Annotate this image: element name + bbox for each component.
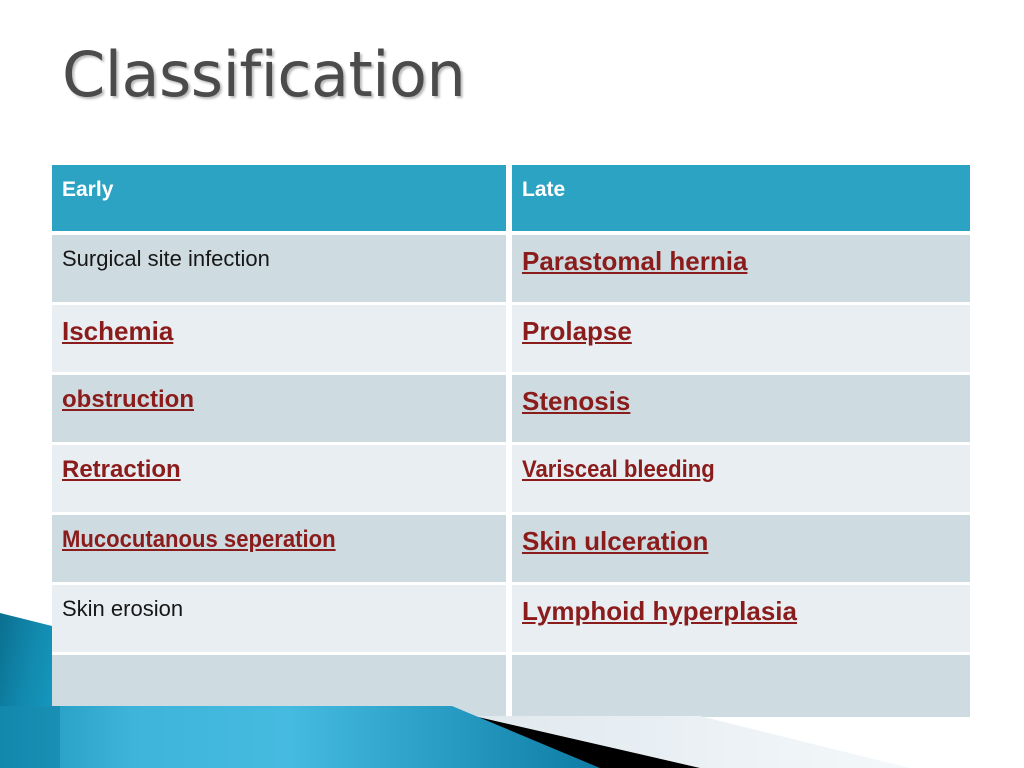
cell-link[interactable]: Stenosis (522, 386, 630, 417)
classification-table: Early Late Surgical site infection Paras… (52, 165, 970, 717)
black-wedge (300, 711, 700, 768)
page-title: Classification (62, 44, 465, 106)
cell-early: Retraction (52, 445, 512, 515)
table-row: Ischemia Prolapse (52, 305, 970, 375)
cell-link[interactable]: Lymphoid hyperplasia (522, 596, 797, 627)
table-row (52, 655, 970, 717)
cell-early: obstruction (52, 375, 512, 445)
cell-link[interactable]: Prolapse (522, 316, 632, 347)
table-row: Retraction Varisceal bleeding (52, 445, 970, 515)
teal-shadow-sliver (0, 706, 60, 768)
cell-late: Varisceal bleeding (512, 445, 970, 515)
table-row: Mucocutanous seperation Skin ulceration (52, 515, 970, 585)
cell-early: Surgical site infection (52, 235, 512, 305)
cell-late: Parastomal hernia (512, 235, 970, 305)
slide-canvas: Classification Early Late Surgical site … (0, 0, 1024, 768)
cell-early: Skin erosion (52, 585, 512, 655)
table-header-row: Early Late (52, 165, 970, 235)
cell-late: Prolapse (512, 305, 970, 375)
cell-late (512, 655, 970, 717)
cell-late: Lymphoid hyperplasia (512, 585, 970, 655)
cell-link[interactable]: obstruction (62, 386, 194, 414)
cell-text: Surgical site infection (62, 246, 270, 272)
cell-link[interactable]: Parastomal hernia (522, 246, 747, 277)
cell-early: Mucocutanous seperation (52, 515, 512, 585)
table-row: Skin erosion Lymphoid hyperplasia (52, 585, 970, 655)
cell-text: Skin erosion (62, 596, 183, 622)
table-row: obstruction Stenosis (52, 375, 970, 445)
cell-link[interactable]: Mucocutanous seperation (62, 526, 336, 554)
teal-left-wedge (0, 613, 52, 768)
column-header-late: Late (512, 165, 970, 235)
cell-early: Ischemia (52, 305, 512, 375)
cell-early (52, 655, 512, 717)
cell-late: Skin ulceration (512, 515, 970, 585)
table-row: Surgical site infection Parastomal herni… (52, 235, 970, 305)
cell-link[interactable]: Skin ulceration (522, 526, 708, 557)
cell-link[interactable]: Ischemia (62, 316, 173, 347)
cell-late: Stenosis (512, 375, 970, 445)
pale-wedge (52, 716, 910, 768)
column-header-early: Early (52, 165, 512, 235)
cell-link[interactable]: Retraction (62, 456, 181, 484)
cell-link[interactable]: Varisceal bleeding (522, 456, 715, 484)
